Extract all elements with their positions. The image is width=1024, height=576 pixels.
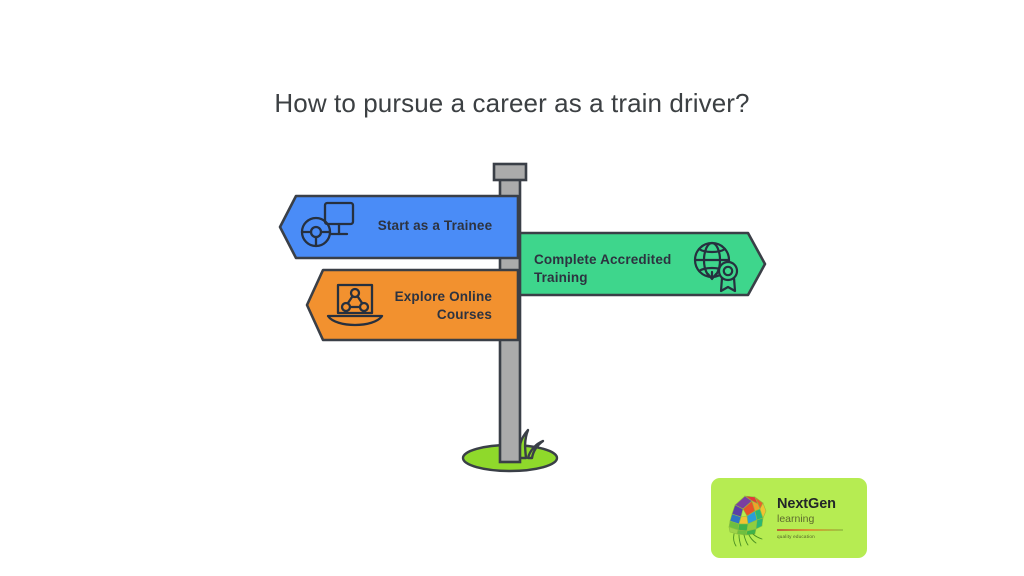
slide-canvas: How to pursue a career as a train driver… [0,0,1024,576]
page-title: How to pursue a career as a train driver… [0,84,1024,122]
brand-tagline: quality education [777,533,843,540]
brand-subtitle: learning [777,513,843,526]
brand-text-block: NextGen learning quality education [777,496,843,540]
brand-logo: NextGen learning quality education [711,478,867,558]
sign-courses[interactable] [307,270,518,340]
sign-accredited[interactable] [520,233,765,295]
sign-trainee[interactable] [280,196,518,258]
signpost-illustration [262,150,782,480]
brand-name: NextGen [777,496,843,512]
brand-divider [777,529,843,531]
signpost-cap [494,164,526,180]
low-poly-brain-icon [721,489,771,547]
